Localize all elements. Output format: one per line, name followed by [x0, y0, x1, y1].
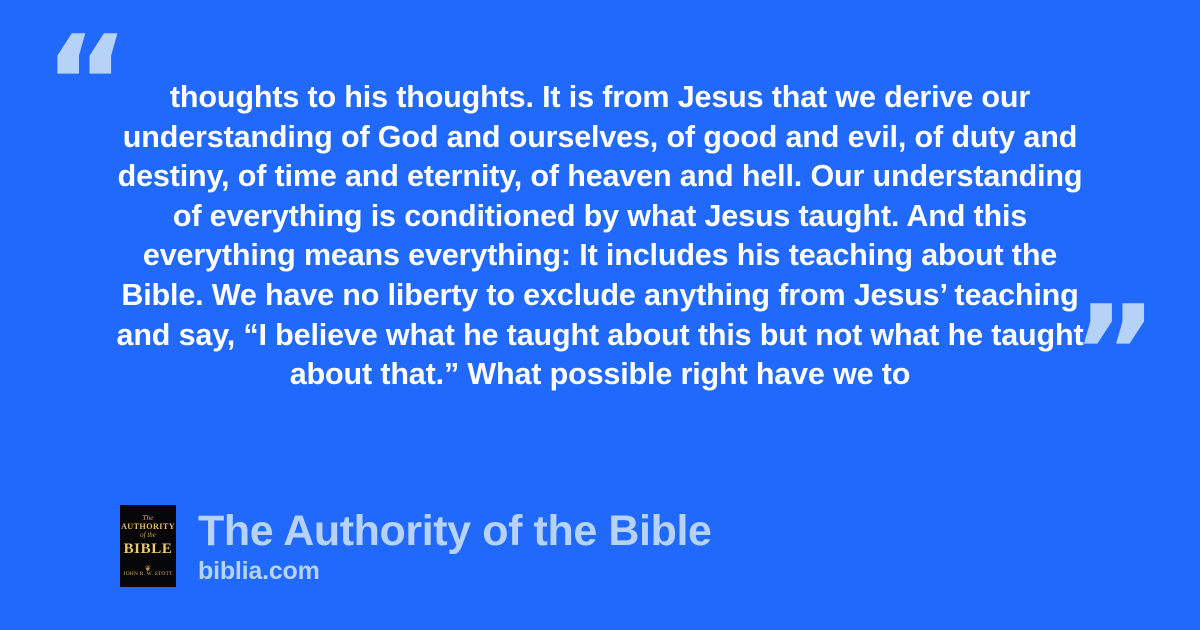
closing-quote-mark-icon: ”: [1072, 288, 1155, 418]
footer-text-group: The Authority of the Bible biblia.com: [198, 507, 712, 586]
attribution-footer: The AUTHORITY of the BIBLE ❦ JOHN R. W. …: [120, 505, 712, 587]
site-url[interactable]: biblia.com: [198, 556, 712, 586]
quote-region: “ thoughts to his thoughts. It is from J…: [0, 0, 1200, 440]
quote-card: “ thoughts to his thoughts. It is from J…: [0, 0, 1200, 630]
quote-text: thoughts to his thoughts. It is from Jes…: [100, 78, 1100, 395]
book-cover-thumbnail: The AUTHORITY of the BIBLE ❦ JOHN R. W. …: [120, 505, 176, 587]
book-title: The Authority of the Bible: [198, 507, 712, 555]
book-cover-line-bible: BIBLE: [124, 542, 173, 557]
book-cover-line-the: The: [142, 514, 153, 522]
book-cover-line-authority: AUTHORITY: [121, 523, 175, 532]
book-cover-line-of-the: of the: [140, 532, 156, 539]
book-cover-author: JOHN R. W. STOTT: [120, 571, 176, 577]
